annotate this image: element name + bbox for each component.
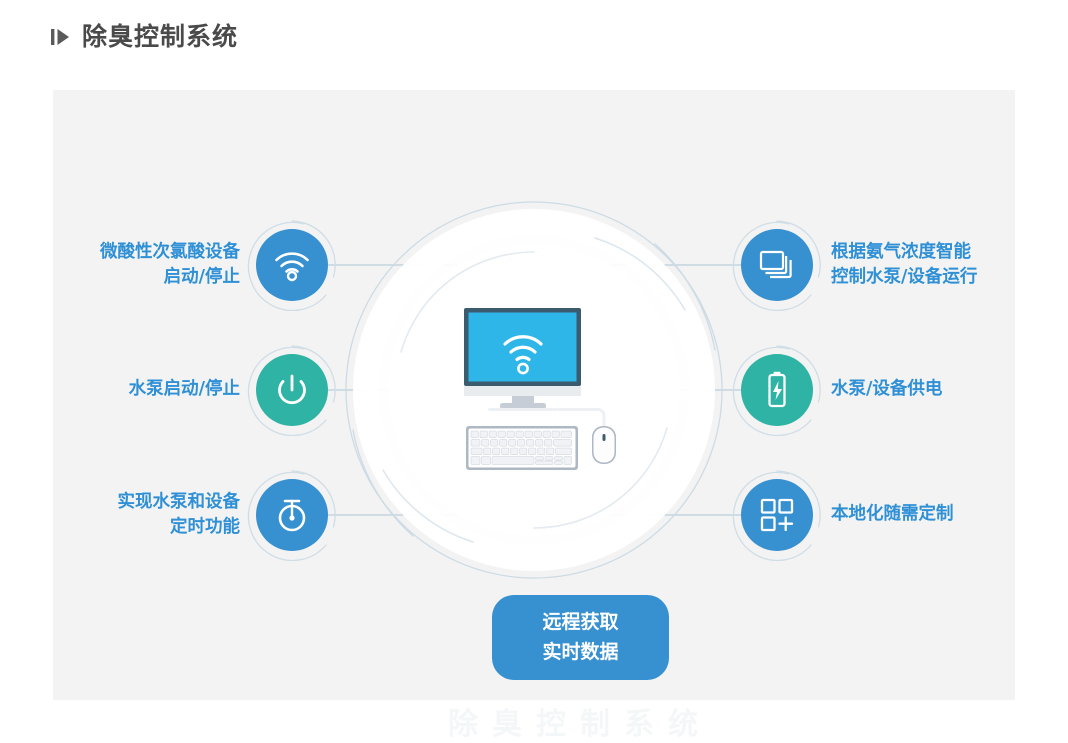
power-icon <box>256 354 328 426</box>
node-right-1-label: 根据氨气浓度智能 控制水泵/设备运行 <box>831 240 977 291</box>
page-title: 除臭控制系统 <box>82 24 238 49</box>
node-left-1-label: 微酸性次氯酸设备 启动/停止 <box>100 240 240 291</box>
node-right-3-label: 本地化随需定制 <box>831 502 954 527</box>
node-right-1-line1: 根据氨气浓度智能 <box>831 240 977 265</box>
stacked-screens-icon <box>741 229 813 301</box>
node-left-3-line2: 定时功能 <box>118 515 241 540</box>
node-right-2-badge[interactable] <box>741 354 813 426</box>
node-right-2-line1: 水泵/设备供电 <box>831 377 942 402</box>
wifi-icon <box>256 229 328 301</box>
center-badge[interactable]: 远程获取 实时数据 <box>492 595 669 680</box>
node-right-2[interactable]: 水泵/设备供电 <box>741 354 942 426</box>
node-left-2-label: 水泵启动/停止 <box>129 377 240 402</box>
node-right-1-line2: 控制水泵/设备运行 <box>831 265 977 290</box>
node-left-1-line1: 微酸性次氯酸设备 <box>100 240 240 265</box>
node-left-3-label: 实现水泵和设备 定时功能 <box>118 490 241 541</box>
node-left-2[interactable]: 水泵启动/停止 <box>53 354 328 426</box>
node-right-1[interactable]: 根据氨气浓度智能 控制水泵/设备运行 <box>741 229 977 301</box>
node-left-1-line2: 启动/停止 <box>100 265 240 290</box>
center-badge-line1: 远程获取 <box>542 608 618 637</box>
node-left-1-badge[interactable] <box>256 229 328 301</box>
grid-plus-icon <box>741 479 813 551</box>
node-right-2-label: 水泵/设备供电 <box>831 377 942 402</box>
node-right-3-line1: 本地化随需定制 <box>831 502 954 527</box>
battery-bolt-icon <box>741 354 813 426</box>
node-left-3-badge[interactable] <box>256 479 328 551</box>
watermark-text: 除臭控制系统 <box>180 700 980 741</box>
page-header: 除臭控制系统 <box>50 24 238 49</box>
node-left-2-line1: 水泵启动/停止 <box>129 377 240 402</box>
node-left-3-line1: 实现水泵和设备 <box>118 490 241 515</box>
diagram-panel: 微酸性次氯酸设备 启动/停止 水泵启动/停止 <box>53 90 1015 700</box>
node-right-1-badge[interactable] <box>741 229 813 301</box>
node-left-2-badge[interactable] <box>256 354 328 426</box>
stopwatch-icon <box>256 479 328 551</box>
play-marker-icon <box>50 27 72 47</box>
node-left-1[interactable]: 微酸性次氯酸设备 启动/停止 <box>53 229 328 301</box>
center-badge-line2: 实时数据 <box>542 638 618 667</box>
node-left-3[interactable]: 实现水泵和设备 定时功能 <box>53 479 328 551</box>
node-right-3[interactable]: 本地化随需定制 <box>741 479 954 551</box>
node-right-3-badge[interactable] <box>741 479 813 551</box>
